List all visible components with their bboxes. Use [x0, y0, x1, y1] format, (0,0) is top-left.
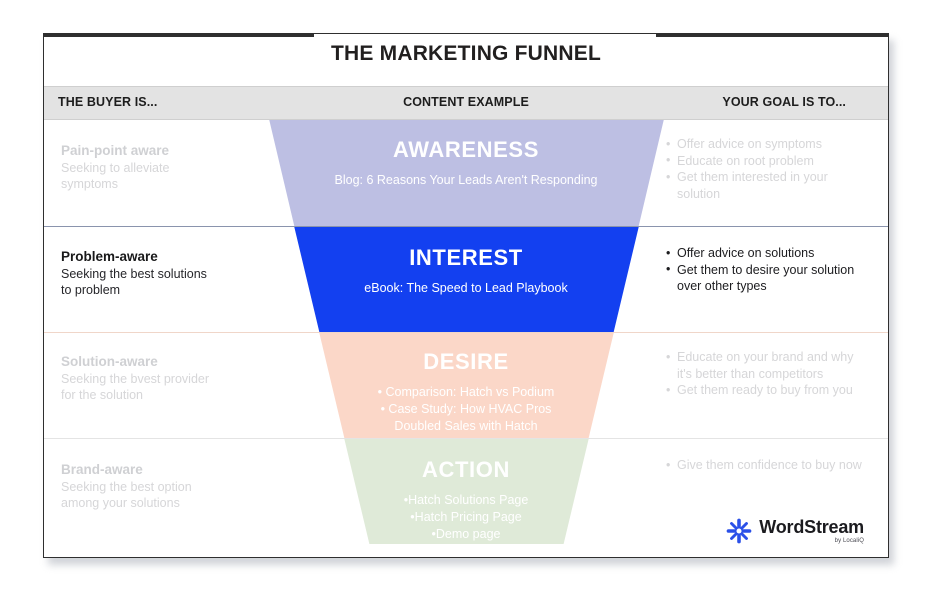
goal-item: Get them to desire your solution over ot… [666, 262, 866, 295]
goal-item: Educate on your brand and why it's bette… [666, 349, 866, 382]
logo-wordmark: WordStream by LocaliQ [759, 518, 864, 544]
goal-item: Get them interested in your solution [666, 169, 866, 202]
goal-list: Give them confidence to buy now [666, 457, 866, 474]
funnel-body: Pain-point aware Seeking to alleviate sy… [44, 120, 888, 558]
title-band: THE MARKETING FUNNEL [44, 34, 888, 86]
logo-subtitle: by LocaliQ [759, 538, 864, 544]
funnel-text-layer: Pain-point aware Seeking to alleviate sy… [44, 120, 888, 558]
column-header-goal: YOUR GOAL IS TO... [722, 95, 846, 109]
funnel-row-awareness: Pain-point aware Seeking to alleviate sy… [44, 120, 888, 226]
goal-cell-awareness: Offer advice on symptoms Educate on root… [666, 136, 866, 202]
goal-list: Offer advice on solutions Get them to de… [666, 245, 866, 295]
goal-item: Get them ready to buy from you [666, 382, 866, 399]
goal-item: Educate on root problem [666, 153, 866, 170]
content-line-2: • Case Study: How HVAC Pros [44, 401, 888, 418]
title-rule-left [43, 34, 314, 37]
wordstream-logo[interactable]: WordStream by LocaliQ [720, 514, 872, 548]
goal-list: Educate on your brand and why it's bette… [666, 349, 866, 399]
goal-item: Give them confidence to buy now [666, 457, 866, 474]
funnel-row-interest: Problem-aware Seeking the best solutions… [44, 227, 888, 332]
page-title: THE MARKETING FUNNEL [44, 42, 888, 66]
goal-item: Offer advice on symptoms [666, 136, 866, 153]
goal-item: Offer advice on solutions [666, 245, 866, 262]
logo-name: WordStream [759, 518, 864, 536]
column-header-band: THE BUYER IS... CONTENT EXAMPLE YOUR GOA… [44, 86, 888, 120]
goal-cell-interest: Offer advice on solutions Get them to de… [666, 245, 866, 295]
funnel-row-desire: Solution-aware Seeking the bvest provide… [44, 333, 888, 438]
title-rule-right [656, 34, 889, 37]
content-line-1: •Hatch Solutions Page [44, 492, 888, 509]
infographic-card: THE MARKETING FUNNEL THE BUYER IS... CON… [43, 33, 889, 558]
funnel-infographic-page: THE MARKETING FUNNEL THE BUYER IS... CON… [0, 0, 936, 600]
content-line-3: Doubled Sales with Hatch [44, 418, 888, 435]
goal-cell-action: Give them confidence to buy now [666, 457, 866, 474]
goal-cell-desire: Educate on your brand and why it's bette… [666, 349, 866, 399]
starburst-icon [726, 518, 752, 544]
goal-list: Offer advice on symptoms Educate on root… [666, 136, 866, 202]
